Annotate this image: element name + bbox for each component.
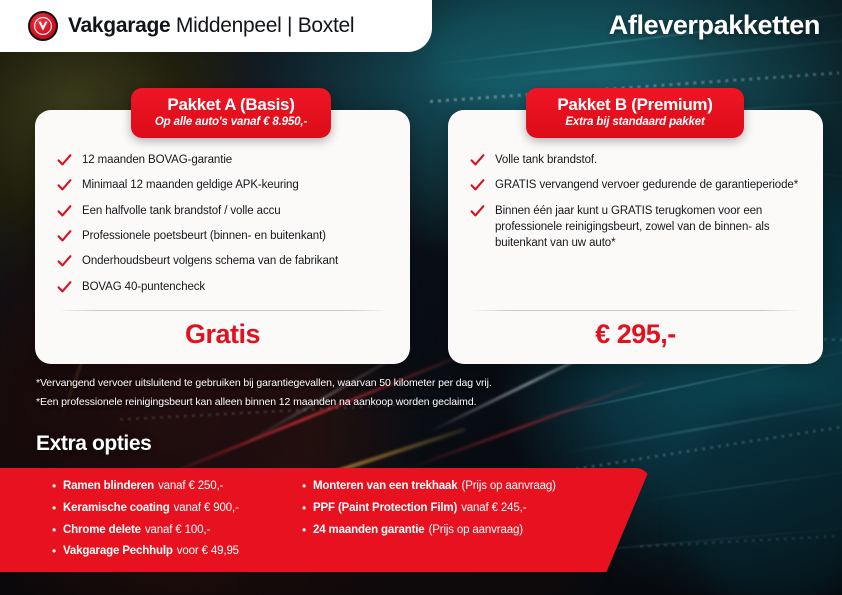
feature-item: 12 maanden BOVAG-garantie [57, 152, 388, 168]
package-a-body: 12 maanden BOVAG-garantie Minimaal 12 ma… [35, 110, 410, 310]
checkmark-icon [57, 229, 72, 244]
extra-option-item: • Chrome deletevanaf € 100,- [50, 524, 300, 538]
feature-item: Professionele poetsbeurt (binnen- en bui… [57, 228, 388, 244]
feature-label: Een halfvolle tank brandstof / volle acc… [82, 203, 281, 219]
extra-option-item: • 24 maanden garantie(Prijs op aanvraag) [300, 524, 630, 538]
checkmark-icon [57, 153, 72, 168]
checkmark-icon [57, 280, 72, 295]
feature-item: Een halfvolle tank brandstof / volle acc… [57, 203, 388, 219]
feature-label: Onderhoudsbeurt volgens schema van de fa… [82, 253, 338, 269]
package-b-badge-title: Pakket B (Premium) [544, 94, 726, 115]
vakgarage-v-logo-icon [28, 11, 58, 41]
package-b-badge: Pakket B (Premium) Extra bij standaard p… [526, 88, 744, 138]
feature-label: Volle tank brandstof. [495, 152, 597, 168]
divider [470, 310, 801, 311]
extra-options-left-column: • Ramen blinderenvanaf € 250,- • Keramis… [50, 480, 300, 572]
extra-option-name: Ramen blinderen [63, 480, 154, 492]
package-card-a: 12 maanden BOVAG-garantie Minimaal 12 ma… [35, 110, 410, 364]
package-b-footer: € 295,- [448, 310, 823, 364]
bullet-icon: • [50, 524, 58, 538]
feature-item: BOVAG 40-puntencheck [57, 279, 388, 295]
extra-options-heading: Extra opties [36, 432, 151, 456]
package-card-b: Volle tank brandstof. GRATIS vervangend … [448, 110, 823, 364]
header-brand-bar: Vakgarage Middenpeel | Boxtel [0, 0, 432, 52]
extra-option-item: • Keramische coatingvanaf € 900,- [50, 502, 300, 516]
package-a-badge: Pakket A (Basis) Op alle auto's vanaf € … [131, 88, 331, 138]
package-a-footer: Gratis [35, 310, 410, 364]
extra-option-name: PPF (Paint Protection Film) [313, 502, 457, 514]
brand-name-bold: Vakgarage [68, 14, 170, 37]
divider [57, 310, 388, 311]
footnotes: *Vervangend vervoer uitsluitend te gebru… [36, 377, 492, 415]
feature-label: BOVAG 40-puntencheck [82, 279, 205, 295]
extra-option-item: • PPF (Paint Protection Film)vanaf € 245… [300, 502, 630, 516]
bullet-icon: • [300, 502, 308, 516]
checkmark-icon [470, 178, 485, 193]
extra-option-item: • Monteren van een trekhaak(Prijs op aan… [300, 480, 630, 494]
bullet-icon: • [50, 502, 58, 516]
package-b-badge-subtitle: Extra bij standaard pakket [544, 115, 726, 130]
extra-option-name: Chrome delete [63, 524, 141, 536]
extra-option-price: vanaf € 250,- [158, 480, 223, 492]
footnote-text: *Een professionele reinigingsbeurt kan a… [36, 396, 492, 408]
afleverpakketten-page: Vakgarage Middenpeel | Boxtel Afleverpak… [0, 0, 842, 595]
page-title: Afleverpakketten [609, 10, 820, 41]
extra-option-price: voor € 49,95 [177, 545, 239, 557]
feature-item: GRATIS vervangend vervoer gedurende de g… [470, 177, 801, 193]
brand-name: Vakgarage Middenpeel | Boxtel [68, 14, 354, 38]
checkmark-icon [470, 204, 485, 219]
package-b-feature-list: Volle tank brandstof. GRATIS vervangend … [470, 152, 801, 252]
extra-option-name: 24 maanden garantie [313, 524, 425, 536]
extra-option-price: vanaf € 100,- [145, 524, 210, 536]
brand-name-location: Middenpeel | Boxtel [176, 14, 354, 37]
bullet-icon: • [50, 545, 58, 559]
feature-item: Volle tank brandstof. [470, 152, 801, 168]
extra-option-price: vanaf € 245,- [461, 502, 526, 514]
checkmark-icon [57, 178, 72, 193]
extra-option-price: (Prijs op aanvraag) [462, 480, 556, 492]
feature-label: Professionele poetsbeurt (binnen- en bui… [82, 228, 326, 244]
package-a-feature-list: 12 maanden BOVAG-garantie Minimaal 12 ma… [57, 152, 388, 295]
checkmark-icon [57, 204, 72, 219]
footnote-text: *Vervangend vervoer uitsluitend te gebru… [36, 377, 492, 389]
checkmark-icon [57, 254, 72, 269]
package-b-price: € 295,- [470, 319, 801, 354]
feature-label: Binnen één jaar kunt u GRATIS terugkomen… [495, 203, 801, 252]
package-a-price: Gratis [57, 319, 388, 354]
extra-option-price: (Prijs op aanvraag) [429, 524, 523, 536]
feature-item: Minimaal 12 maanden geldige APK-keuring [57, 177, 388, 193]
extra-options-right-column: • Monteren van een trekhaak(Prijs op aan… [300, 480, 630, 572]
extra-option-name: Monteren van een trekhaak [313, 480, 458, 492]
bullet-icon: • [50, 480, 58, 494]
feature-item: Binnen één jaar kunt u GRATIS terugkomen… [470, 203, 801, 252]
feature-label: GRATIS vervangend vervoer gedurende de g… [495, 177, 798, 193]
package-b-body: Volle tank brandstof. GRATIS vervangend … [448, 110, 823, 310]
feature-label: Minimaal 12 maanden geldige APK-keuring [82, 177, 299, 193]
feature-label: 12 maanden BOVAG-garantie [82, 152, 232, 168]
feature-item: Onderhoudsbeurt volgens schema van de fa… [57, 253, 388, 269]
extra-option-name: Vakgarage Pechhulp [63, 545, 173, 557]
bullet-icon: • [300, 480, 308, 494]
extra-option-item: • Ramen blinderenvanaf € 250,- [50, 480, 300, 494]
extra-option-item: • Vakgarage Pechhulpvoor € 49,95 [50, 545, 300, 559]
package-a-badge-title: Pakket A (Basis) [149, 94, 313, 115]
checkmark-icon [470, 153, 485, 168]
extra-option-name: Keramische coating [63, 502, 170, 514]
extra-option-price: vanaf € 900,- [174, 502, 239, 514]
bullet-icon: • [300, 524, 308, 538]
package-a-badge-subtitle: Op alle auto's vanaf € 8.950,- [149, 115, 313, 130]
extra-options-content: • Ramen blinderenvanaf € 250,- • Keramis… [20, 468, 630, 572]
